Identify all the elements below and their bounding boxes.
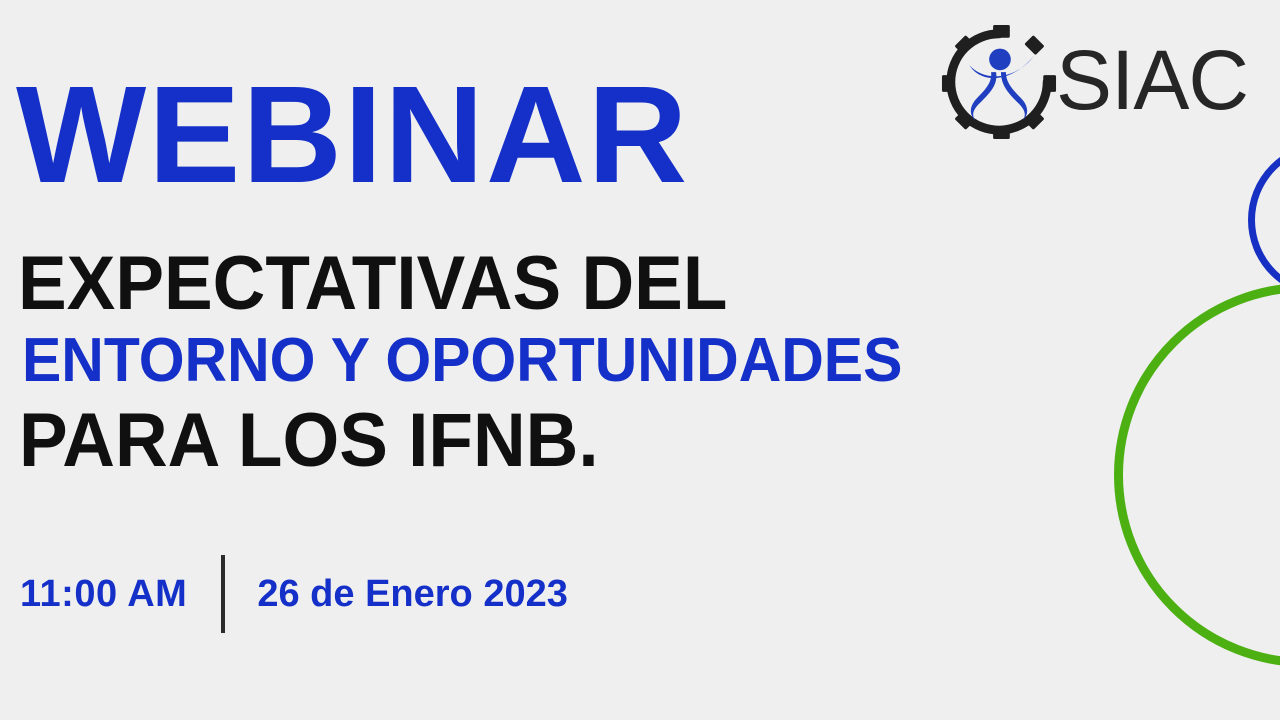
blue-circle-outline <box>1248 142 1280 298</box>
headline-block: EXPECTATIVAS DEL ENTORNO Y OPORTUNIDADES… <box>18 248 1038 477</box>
webinar-banner: SIAC WEBINAR EXPECTATIVAS DEL ENTORNO Y … <box>0 0 1280 720</box>
banner-content: WEBINAR EXPECTATIVAS DEL ENTORNO Y OPORT… <box>0 0 1060 720</box>
headline-line-3: PARA LOS IFNB. <box>19 405 997 477</box>
webinar-kicker: WEBINAR <box>16 66 689 204</box>
green-circle-outline <box>1114 283 1280 667</box>
siac-wordmark: SIAC <box>1056 38 1248 122</box>
meta-divider <box>221 555 225 633</box>
headline-line-1: EXPECTATIVAS DEL <box>18 248 997 320</box>
headline-line-2: ENTORNO Y OPORTUNIDADES <box>22 332 987 391</box>
event-meta: 11:00 AM 26 de Enero 2023 <box>20 556 568 632</box>
event-time: 11:00 AM <box>20 575 187 613</box>
event-date: 26 de Enero 2023 <box>257 575 568 613</box>
